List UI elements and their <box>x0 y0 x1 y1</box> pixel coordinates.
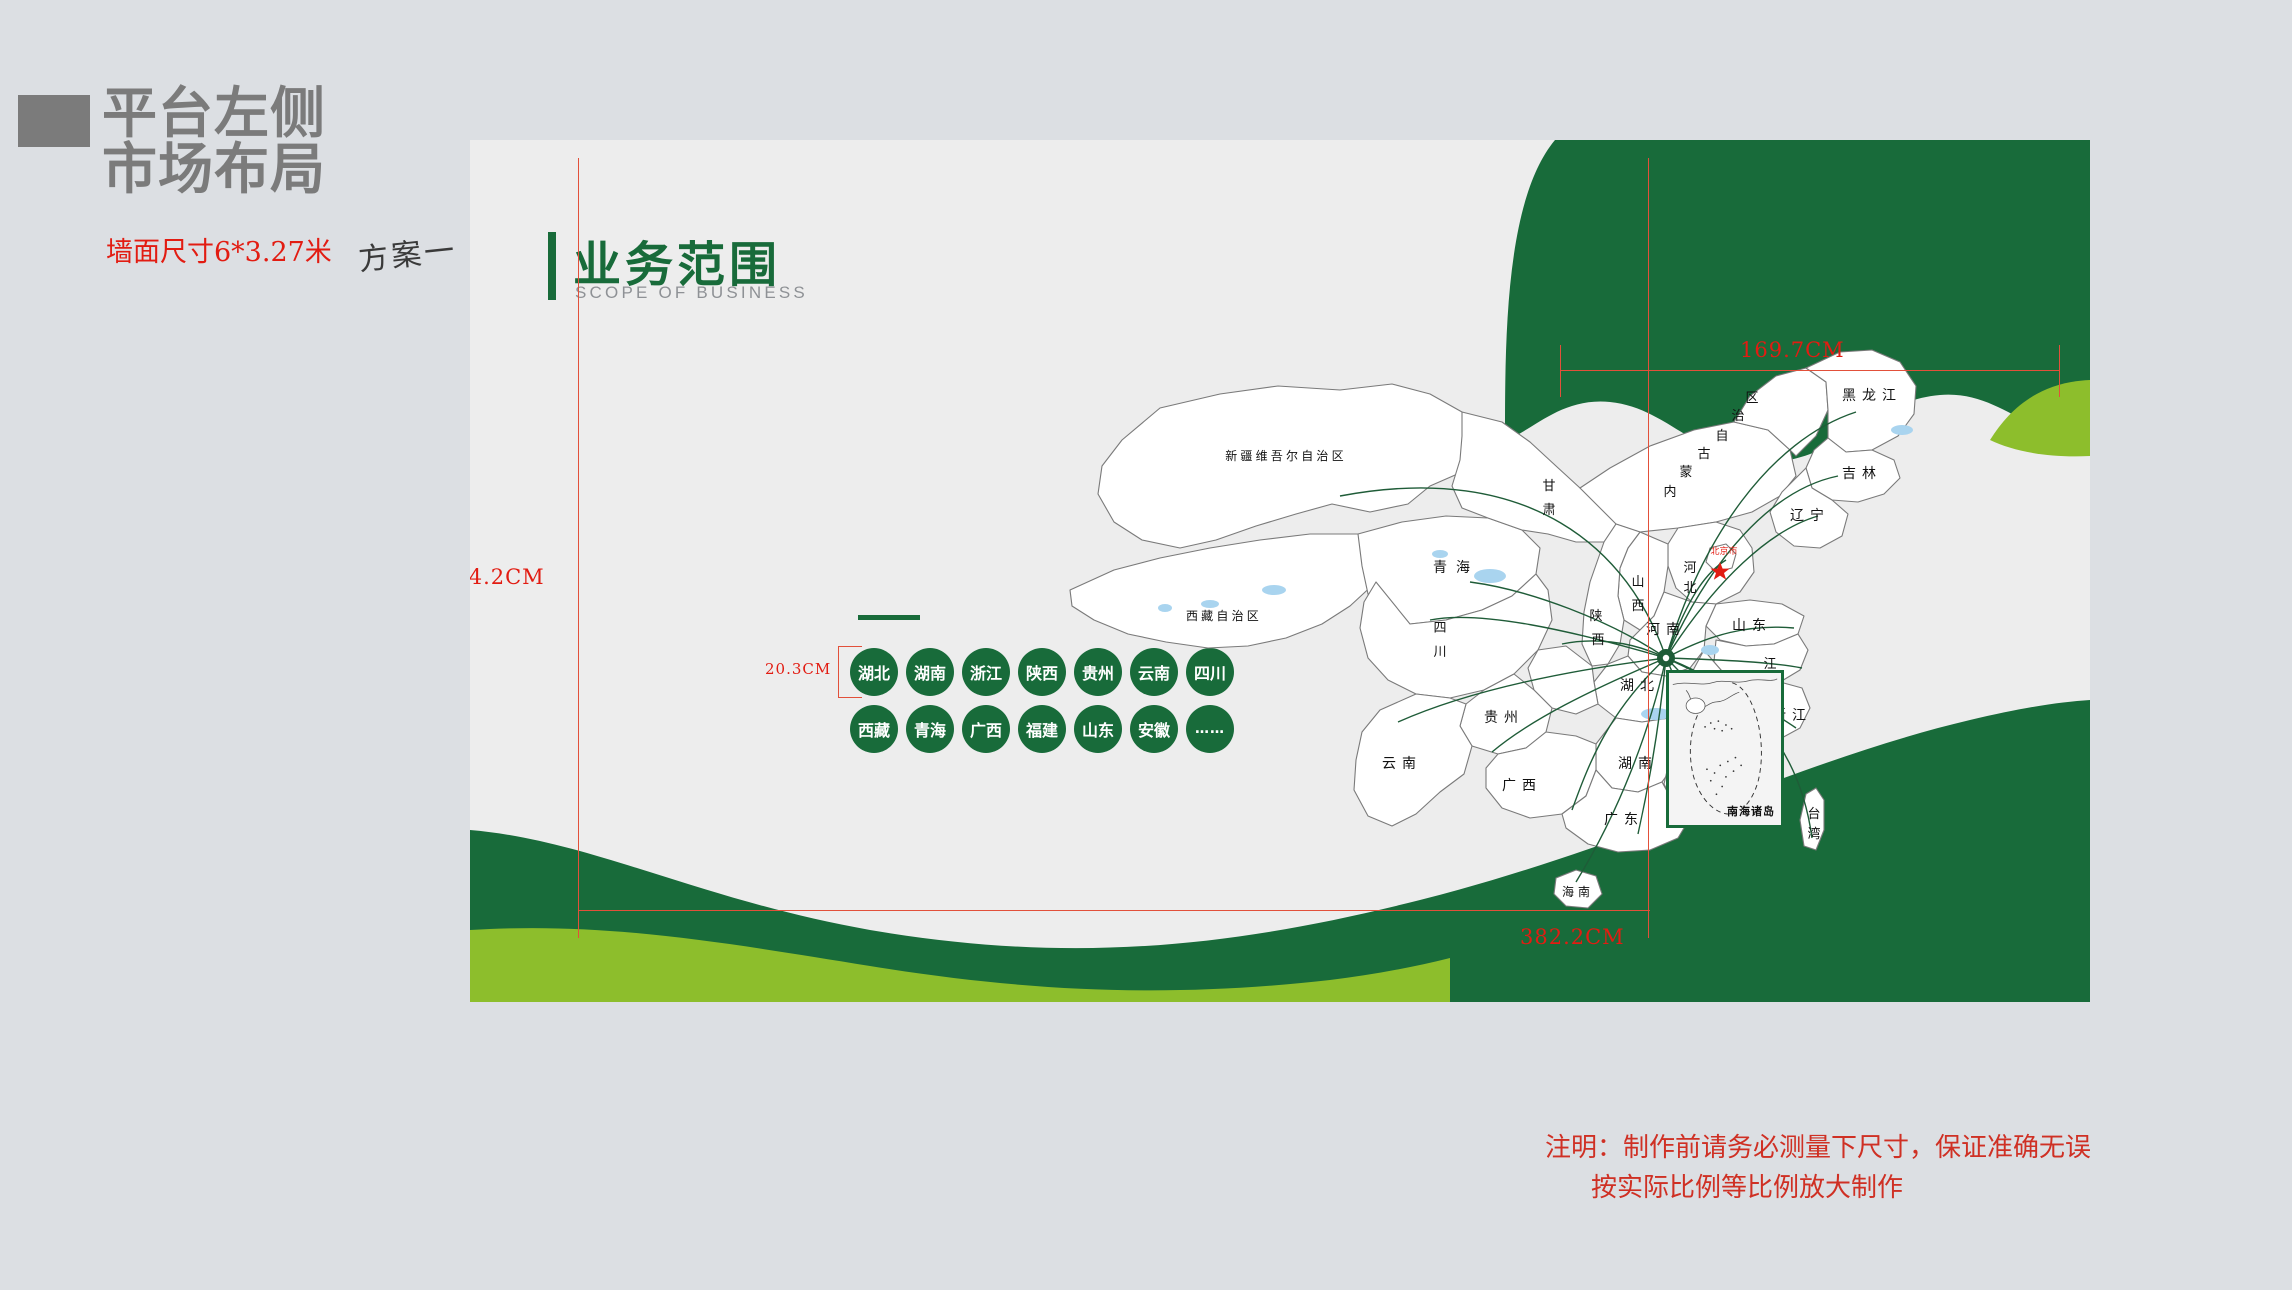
svg-text:西藏自治区: 西藏自治区 <box>1186 609 1262 623</box>
svg-text:青海: 青海 <box>1433 560 1479 576</box>
south-china-sea-inset: 南海诸岛 <box>1666 670 1784 828</box>
dim-tick-badge-top <box>838 646 862 647</box>
badge-section-rule <box>858 615 920 620</box>
dim-guide-horizontal-topright <box>1560 370 2060 371</box>
svg-text:台: 台 <box>1807 807 1820 822</box>
svg-text:湖南: 湖南 <box>1618 756 1658 772</box>
dim-label-top-right: 169.7CM <box>1740 338 1845 362</box>
svg-text:蒙: 蒙 <box>1679 465 1692 480</box>
svg-text:四: 四 <box>1433 621 1446 636</box>
svg-text:河: 河 <box>1683 561 1696 576</box>
dim-tick-badge-bottom <box>838 697 862 698</box>
svg-text:肃: 肃 <box>1542 503 1557 518</box>
svg-text:内: 内 <box>1663 484 1676 500</box>
svg-text:甘: 甘 <box>1542 479 1557 494</box>
header-color-swatch <box>18 95 90 147</box>
svg-text:陕: 陕 <box>1589 609 1602 624</box>
design-board: 业务范围 SCOPE OF BUSINESS 湖北 湖南 浙江 陕西 贵州 云南… <box>470 140 2090 1002</box>
svg-text:山东: 山东 <box>1732 618 1772 634</box>
heading-title-en: SCOPE OF BUSINESS <box>575 283 808 303</box>
svg-text:辽宁: 辽宁 <box>1790 507 1830 524</box>
svg-text:川: 川 <box>1433 645 1446 660</box>
svg-text:湖北: 湖北 <box>1620 678 1660 694</box>
svg-text:黑龙江: 黑龙江 <box>1842 388 1902 404</box>
province-badge[interactable]: 湖北 <box>850 648 898 696</box>
svg-text:西: 西 <box>1591 633 1604 648</box>
province-badge[interactable]: 西藏 <box>850 705 898 753</box>
inset-label: 南海诸岛 <box>1727 803 1775 819</box>
svg-text:自: 自 <box>1715 429 1728 444</box>
svg-text:云南: 云南 <box>1382 756 1422 772</box>
svg-text:区: 区 <box>1745 391 1758 406</box>
production-note: 注明：制作前请务必测量下尺寸，保证准确无误 按实际比例等比例放大制作 <box>1545 1128 2091 1209</box>
svg-text:广西: 广西 <box>1502 778 1542 794</box>
scheme-variant-label: 方案一 <box>356 225 459 279</box>
svg-text:湾: 湾 <box>1807 826 1820 842</box>
svg-text:海南: 海南 <box>1562 884 1594 899</box>
dim-label-left: 264.2CM <box>470 565 545 589</box>
dim-tick-topright-right <box>2059 345 2060 397</box>
dim-label-bottom: 382.2CM <box>1520 925 1625 949</box>
svg-text:西: 西 <box>1631 599 1644 614</box>
dim-guide-horizontal-bottom <box>578 910 1650 911</box>
province-badge[interactable]: 湖南 <box>906 648 954 696</box>
note-line-2: 按实际比例等比例放大制作 <box>1591 1168 2091 1208</box>
svg-text:新疆维吾尔自治区: 新疆维吾尔自治区 <box>1225 448 1347 463</box>
province-badge[interactable]: 浙江 <box>962 648 1010 696</box>
province-badge[interactable]: 广西 <box>962 705 1010 753</box>
page-title: 平台左侧 市场布局 <box>102 85 326 197</box>
heading-accent-bar <box>548 232 556 300</box>
svg-text:吉林: 吉林 <box>1842 466 1882 482</box>
svg-text:贵州: 贵州 <box>1484 710 1524 726</box>
dim-guide-vertical-right <box>1648 158 1649 938</box>
svg-text:治: 治 <box>1731 409 1744 424</box>
china-map: 新疆维吾尔自治区 西藏自治区 青海 甘 肃 内 蒙 古 自 治 区 黑龙江 吉林… <box>1010 290 2010 930</box>
header-block: 平台左侧 市场布局 方案一 墙面尺寸6*3.27米 <box>18 95 488 275</box>
province-badge[interactable]: 青海 <box>906 705 954 753</box>
dim-tick-topright-left <box>1560 345 1561 397</box>
svg-text:河南: 河南 <box>1646 622 1686 638</box>
svg-text:山: 山 <box>1631 575 1644 590</box>
svg-text:古: 古 <box>1697 447 1710 462</box>
wall-size-label: 墙面尺寸6*3.27米 <box>106 230 332 269</box>
svg-text:广东: 广东 <box>1604 812 1644 828</box>
dim-label-badge-height: 20.3CM <box>765 660 831 678</box>
note-line-1: 注明：制作前请务必测量下尺寸，保证准确无误 <box>1545 1133 2091 1163</box>
dim-guide-vertical-left <box>578 158 579 938</box>
svg-text:北: 北 <box>1683 581 1696 596</box>
dim-tick-badge-vertical <box>838 646 839 698</box>
capital-label: 北京市 <box>1710 545 1737 557</box>
